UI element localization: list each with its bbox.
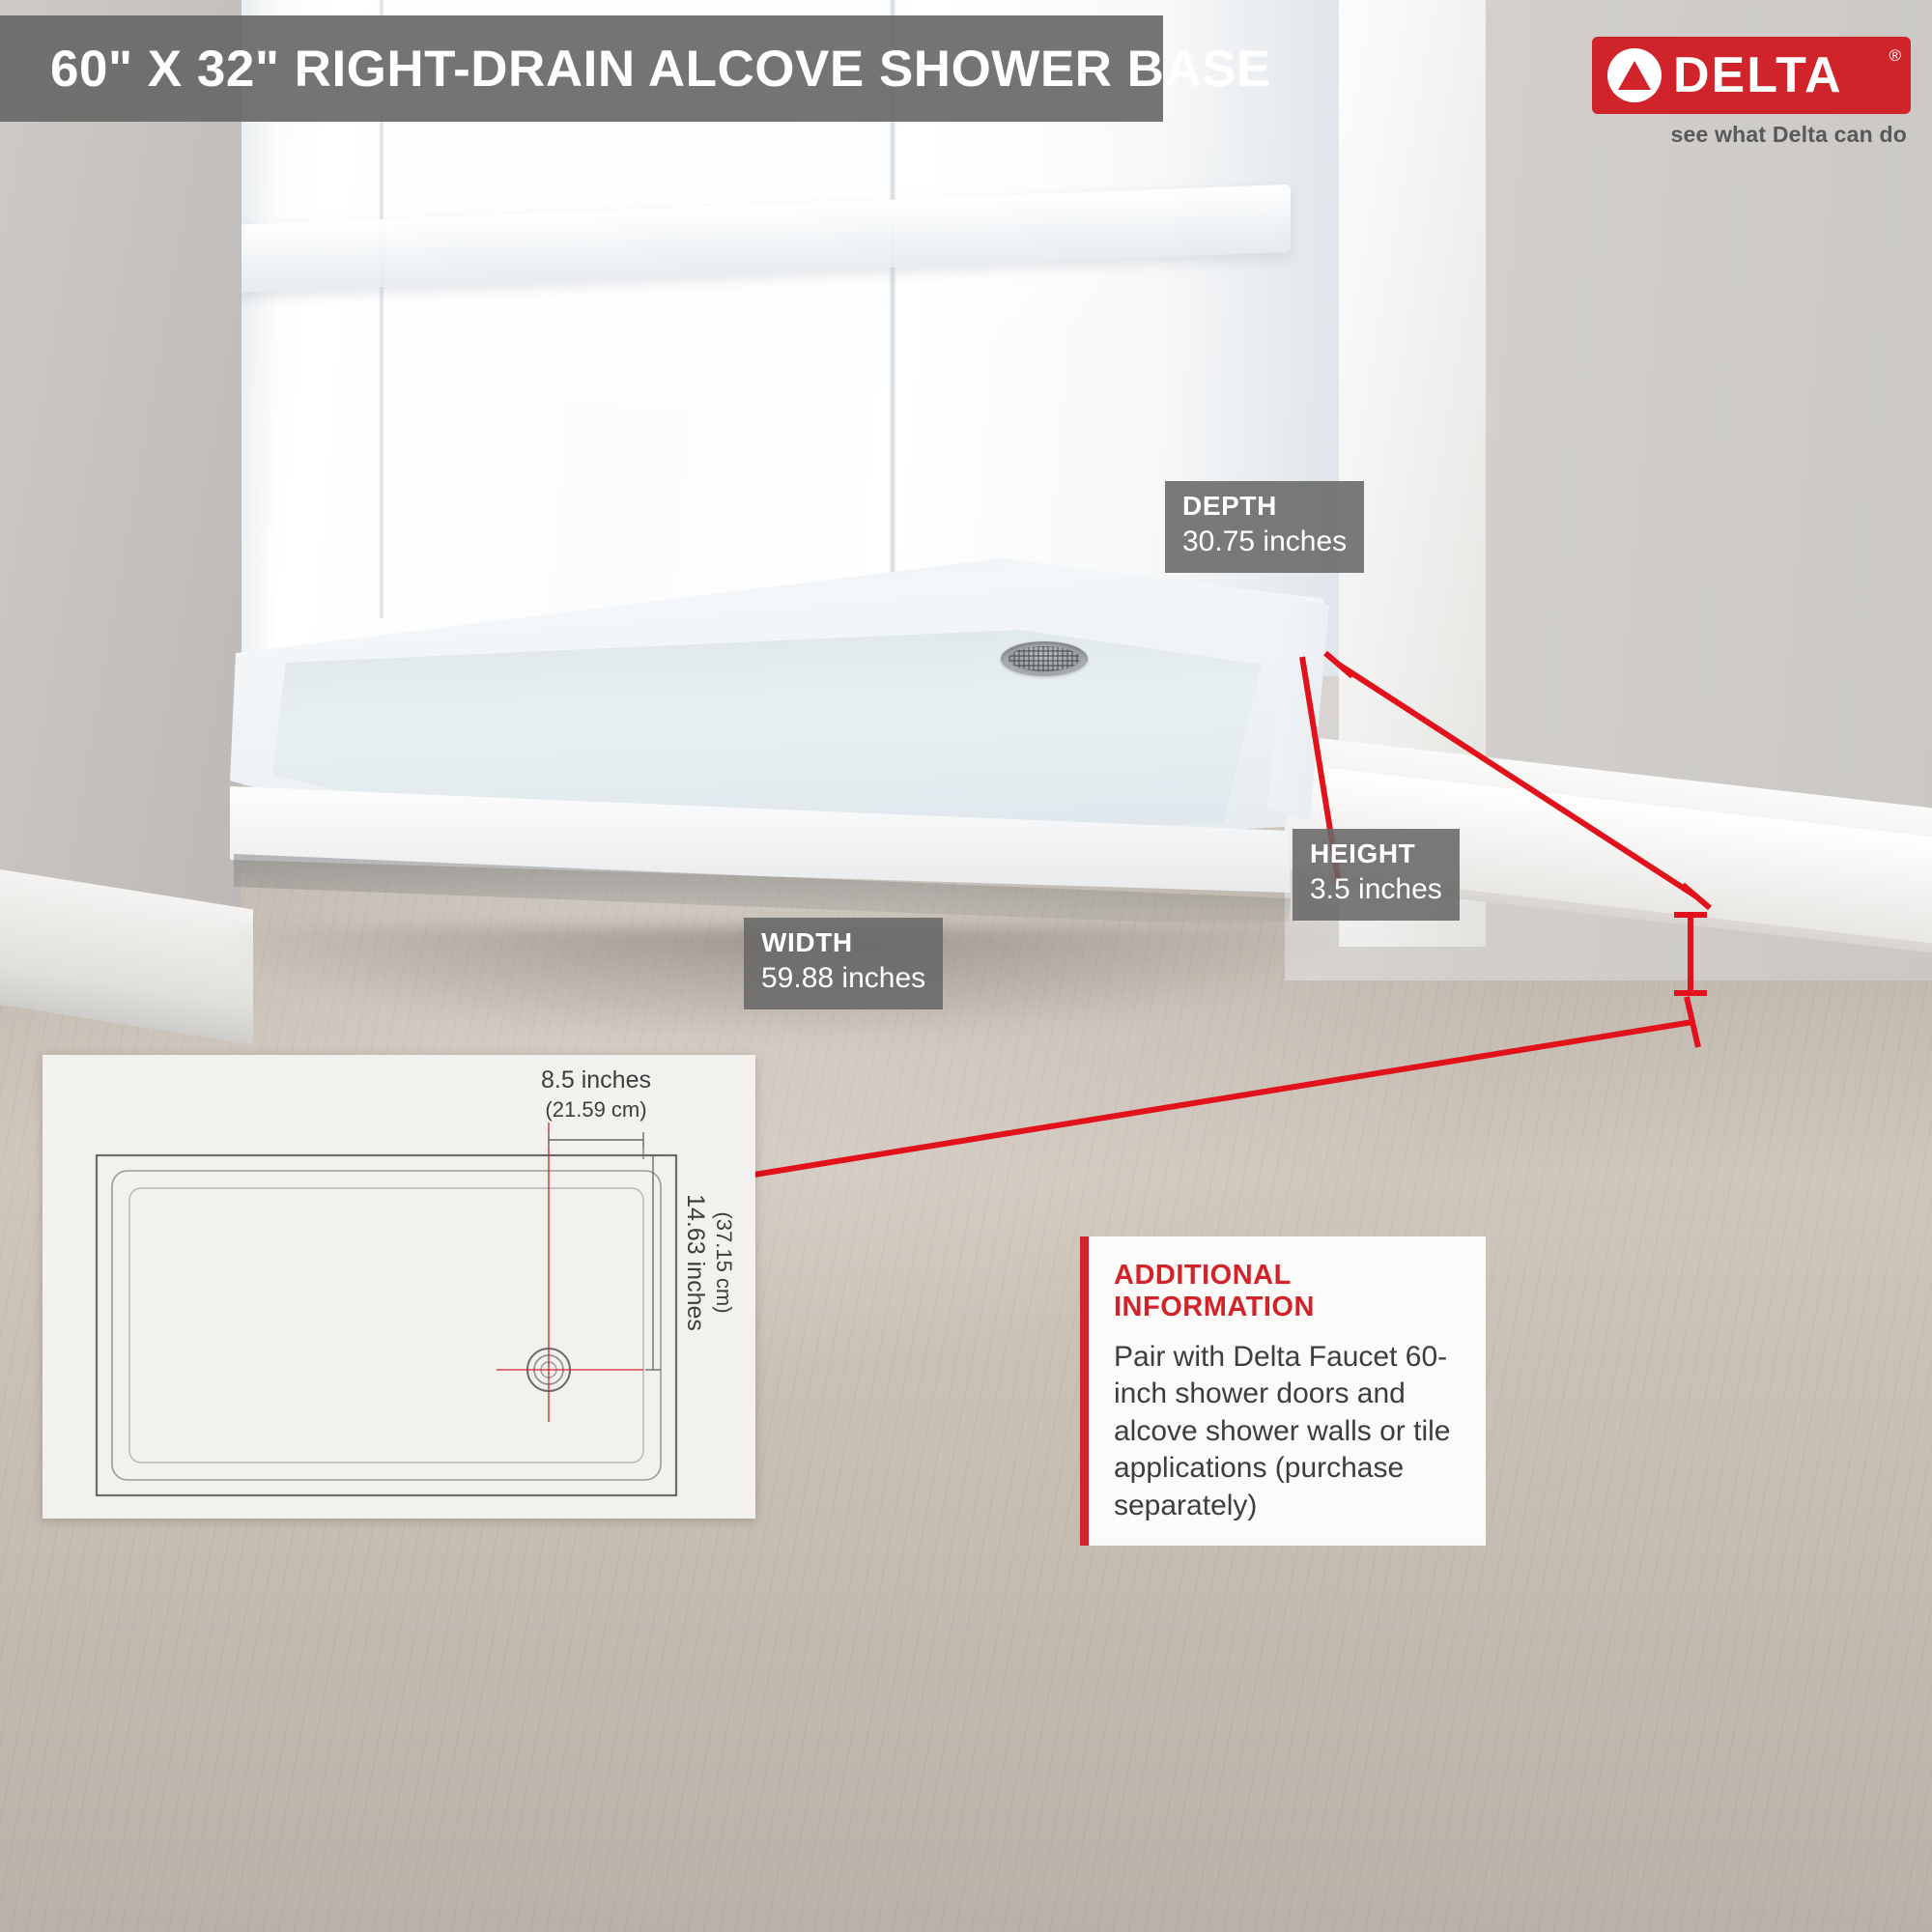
product-photo (0, 0, 1932, 1932)
callout-height: HEIGHT 3.5 inches (1293, 829, 1460, 921)
delta-wordmark: DELTA (1673, 46, 1843, 104)
delta-logo-box: DELTA ® (1592, 37, 1911, 114)
additional-information-title: ADDITIONAL INFORMATION (1114, 1260, 1461, 1323)
technical-drawing: 8.5 inches (21.59 cm) 14.63 inches (37.1… (43, 1055, 755, 1519)
delta-logo: DELTA ® see what Delta can do (1592, 37, 1911, 148)
callout-width-value: 59.88 inches (761, 962, 925, 996)
callout-depth: DEPTH 30.75 inches (1165, 481, 1364, 573)
delta-triangle-icon (1607, 48, 1662, 102)
title-bar: 60" X 32" RIGHT-DRAIN ALCOVE SHOWER BASE (0, 15, 1163, 122)
left-wall (0, 0, 241, 995)
drawing-pan-inner-outline (112, 1171, 661, 1480)
callout-width: WIDTH 59.88 inches (744, 918, 943, 1009)
drain-grate-icon (1009, 646, 1080, 671)
page-title: 60" X 32" RIGHT-DRAIN ALCOVE SHOWER BASE (0, 40, 1271, 99)
shower-base-pan (228, 537, 1329, 981)
delta-tagline: see what Delta can do (1592, 122, 1911, 148)
additional-information-card: ADDITIONAL INFORMATION Pair with Delta F… (1080, 1236, 1486, 1546)
drawing-label-drain-offset-side-cm: (37.15 cm) (712, 1211, 736, 1313)
callout-height-label: HEIGHT (1310, 838, 1442, 869)
registered-mark: ® (1889, 46, 1901, 66)
additional-information-body: Pair with Delta Faucet 60-inch shower do… (1114, 1339, 1461, 1524)
drawing-pan-basin-outline (129, 1188, 643, 1463)
technical-drawing-card: 8.5 inches (21.59 cm) 14.63 inches (37.1… (43, 1055, 755, 1519)
drawing-label-drain-offset-top-cm: (21.59 cm) (545, 1097, 646, 1122)
drawing-label-drain-offset-top: 8.5 inches (541, 1066, 651, 1094)
callout-width-label: WIDTH (761, 927, 925, 958)
drawing-label-drain-offset-side: 14.63 inches (682, 1194, 709, 1331)
callout-depth-label: DEPTH (1182, 491, 1347, 522)
callout-height-value: 3.5 inches (1310, 873, 1442, 907)
callout-depth-value: 30.75 inches (1182, 526, 1347, 559)
drawing-pan-outline (97, 1155, 676, 1495)
